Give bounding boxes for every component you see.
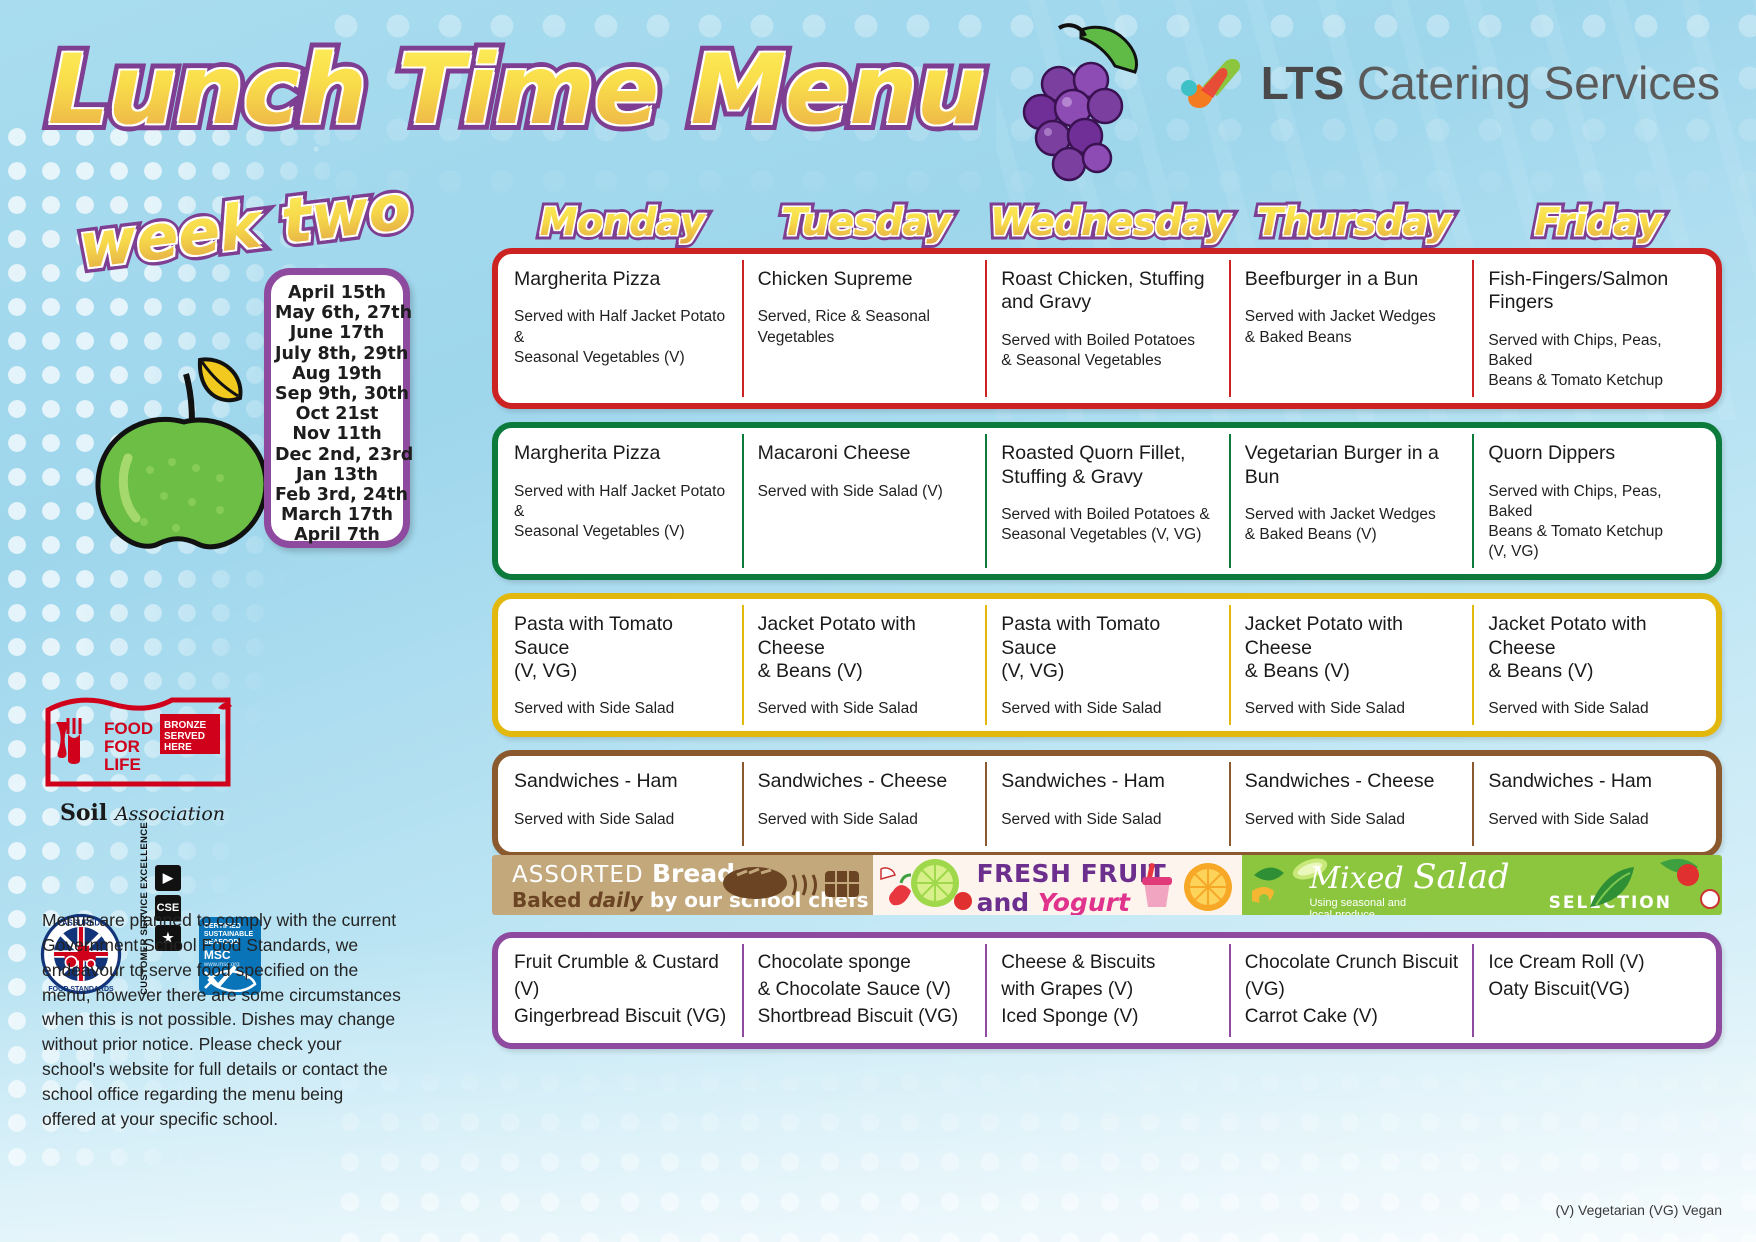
dish-name: Margherita Pizza: [514, 442, 728, 465]
dish-description: Served with Chips, Peas, Baked Beans & T…: [1488, 482, 1702, 563]
dish-description: Served, Rice & Seasonal Vegetables: [758, 307, 972, 347]
menu-cell: Margherita Pizza Served with Half Jacket…: [498, 428, 742, 574]
dish-name: Roasted Quorn Fillet, Stuffing & Gravy: [1001, 442, 1215, 489]
menu-cell: Sandwiches - Ham Served with Side Salad: [985, 756, 1229, 852]
dish-name: Beefburger in a Bun: [1245, 268, 1459, 291]
dish-description: Served with Side Salad: [1488, 810, 1702, 830]
dish-description: Served with Jacket Wedges & Baked Beans …: [1245, 505, 1459, 545]
menu-cell: Cheese & Biscuits with Grapes (V) Iced S…: [985, 938, 1229, 1043]
menu-cell: Jacket Potato with Cheese & Beans (V) Se…: [1472, 599, 1716, 731]
promo-fruit-line1: FRESH FRUIT: [977, 859, 1167, 888]
dish-description: Served with Boiled Potatoes & Seasonal V…: [1001, 331, 1215, 371]
menu-row-main-meat: Margherita Pizza Served with Half Jacket…: [492, 248, 1722, 409]
menu-cell: Roasted Quorn Fillet, Stuffing & Gravy S…: [985, 428, 1229, 574]
dessert-section: Fruit Crumble & Custard (V) Gingerbread …: [492, 932, 1722, 1062]
dish-description: Served with Jacket Wedges & Baked Beans: [1245, 307, 1459, 347]
menu-cell: Jacket Potato with Cheese & Beans (V) Se…: [1229, 599, 1473, 731]
promo-salad-line1: Mixed Salad: [1309, 857, 1509, 897]
date-line: March 17th: [275, 505, 399, 525]
menu-cell: Chicken Supreme Served, Rice & Seasonal …: [742, 254, 986, 403]
dish-name: Sandwiches - Cheese: [1245, 770, 1459, 793]
promo-fruit-and: and: [977, 888, 1038, 915]
menu-cell: Fruit Crumble & Custard (V) Gingerbread …: [498, 938, 742, 1043]
ffl-badge3: HERE: [164, 742, 192, 753]
disclaimer-text: Menus are planned to comply with the cur…: [42, 908, 402, 1132]
dietary-key-note: (V) Vegetarian (VG) Vegan: [1555, 1202, 1722, 1218]
dessert-text: Chocolate sponge & Chocolate Sauce (V) S…: [758, 950, 972, 1031]
date-line: Aug 19th: [275, 364, 399, 384]
promo-salad-sub: Using seasonal and local produce: [1309, 897, 1509, 915]
menu-cell: Jacket Potato with Cheese & Beans (V) Se…: [742, 599, 986, 731]
lts-bold: LTS: [1261, 57, 1344, 109]
date-line: Feb 3rd, 24th: [275, 485, 399, 505]
menu-cell: Sandwiches - Cheese Served with Side Sal…: [742, 756, 986, 852]
dish-description: Served with Chips, Peas, Baked Beans & T…: [1488, 331, 1702, 391]
promo-salad-text: Mixed Salad Using seasonal and local pro…: [1309, 857, 1509, 915]
promo-fruit-text: FRESH FRUIT and Yogurt: [977, 859, 1167, 915]
date-line: July 8th, 29th: [275, 344, 399, 364]
lts-tick-icon: [1173, 46, 1247, 120]
menu-cell: Ice Cream Roll (V) Oaty Biscuit(VG): [1472, 938, 1716, 1043]
dish-description: Served with Side Salad: [1001, 699, 1215, 719]
lts-wordmark: LTS Catering Services: [1261, 56, 1720, 110]
dish-name: Jacket Potato with Cheese & Beans (V): [1245, 613, 1459, 683]
day-header-wednesday-outline: Wednesday: [990, 200, 1230, 244]
menu-cell: Sandwiches - Cheese Served with Side Sal…: [1229, 756, 1473, 852]
promo-breads: ASSORTED Breads Baked daily by our schoo…: [492, 855, 873, 915]
dish-name: Margherita Pizza: [514, 268, 728, 291]
menu-cell: Vegetarian Burger in a Bun Served with J…: [1229, 428, 1473, 574]
date-line: June 17th: [275, 323, 399, 343]
promo-banner: ASSORTED Breads Baked daily by our schoo…: [492, 855, 1722, 915]
blackberry-icon: [985, 22, 1155, 197]
dish-name: Jacket Potato with Cheese & Beans (V): [758, 613, 972, 683]
dish-description: Served with Side Salad: [1488, 699, 1702, 719]
page-title-outline: Lunch Time Menu: [48, 34, 984, 146]
date-line: April 7th: [275, 525, 399, 545]
dish-name: Sandwiches - Cheese: [758, 770, 972, 793]
promo-breads-assorted: ASSORTED: [512, 862, 652, 888]
fruit-icons: [877, 857, 987, 913]
dish-name: Pasta with Tomato Sauce (V, VG): [514, 613, 728, 683]
ffl-badge1: BRONZE: [164, 720, 207, 731]
dessert-text: Fruit Crumble & Custard (V) Gingerbread …: [514, 950, 728, 1031]
promo-mixed-salad: Mixed Salad Using seasonal and local pro…: [1242, 855, 1722, 915]
dish-name: Pasta with Tomato Sauce (V, VG): [1001, 613, 1215, 683]
dish-name: Sandwiches - Ham: [1001, 770, 1215, 793]
menu-cell: Pasta with Tomato Sauce (V, VG) Served w…: [985, 599, 1229, 731]
dish-name: Fish-Fingers/Salmon Fingers: [1488, 268, 1702, 315]
menu-cell: Beefburger in a Bun Served with Jacket W…: [1229, 254, 1473, 403]
ffl-line1: FOOD: [104, 719, 153, 738]
lts-rest: Catering Services: [1344, 57, 1720, 109]
salad-leaf-tomato-icons: [1570, 855, 1720, 915]
dessert-text: Chocolate Crunch Biscuit (VG) Carrot Cak…: [1245, 950, 1459, 1031]
dish-name: Sandwiches - Ham: [1488, 770, 1702, 793]
dish-description: Served with Side Salad: [758, 810, 972, 830]
bread-loaf-icon: [721, 861, 861, 907]
dish-description: Served with Half Jacket Potato & Seasona…: [514, 482, 728, 542]
dessert-text: Ice Cream Roll (V) Oaty Biscuit(VG): [1488, 950, 1702, 1004]
dish-description: Served with Half Jacket Potato & Seasona…: [514, 307, 728, 367]
menu-cell: Chocolate Crunch Biscuit (VG) Carrot Cak…: [1229, 938, 1473, 1043]
menu-row-jacket-pasta: Pasta with Tomato Sauce (V, VG) Served w…: [492, 593, 1722, 737]
dish-description: Served with Side Salad: [514, 810, 728, 830]
day-header-thursday-outline: Thursday: [1257, 200, 1451, 244]
food-for-life-logo: FOOD FOR LIFE BRONZE SERVED HERE: [42, 692, 238, 804]
menu-row-desserts: Fruit Crumble & Custard (V) Gingerbread …: [492, 932, 1722, 1049]
dates-card: April 15th May 6th, 27th June 17th July …: [264, 268, 410, 548]
dish-name: Vegetarian Burger in a Bun: [1245, 442, 1459, 489]
cse-play-icon: ▶: [155, 865, 181, 891]
dish-description: Served with Side Salad: [1245, 810, 1459, 830]
promo-fruit-yogurt: Yogurt: [1038, 888, 1130, 915]
dish-description: Served with Boiled Potatoes & Seasonal V…: [1001, 505, 1215, 545]
dish-description: Served with Side Salad: [1001, 810, 1215, 830]
promo-salad-mixed: Mixed: [1309, 861, 1413, 896]
date-line: Sep 9th, 30th: [275, 384, 399, 404]
dish-description: Served with Side Salad: [514, 699, 728, 719]
dish-name: Chicken Supreme: [758, 268, 972, 291]
day-header-tuesday-outline: Tuesday: [781, 200, 950, 244]
menu-cell: Pasta with Tomato Sauce (V, VG) Served w…: [498, 599, 742, 731]
dish-name: Roast Chicken, Stuffing and Gravy: [1001, 268, 1215, 315]
menu-grid: Margherita Pizza Served with Half Jacket…: [492, 248, 1722, 871]
menu-cell: Sandwiches - Ham Served with Side Salad: [1472, 756, 1716, 852]
date-line: April 15th: [275, 283, 399, 303]
lts-logo: LTS Catering Services: [1173, 46, 1720, 120]
promo-breads-baked: Baked: [512, 888, 588, 912]
menu-cell: Fish-Fingers/Salmon Fingers Served with …: [1472, 254, 1716, 403]
day-header-friday-outline: Friday: [1535, 200, 1662, 244]
menu-cell: Macaroni Cheese Served with Side Salad (…: [742, 428, 986, 574]
ffl-line3: LIFE: [104, 755, 141, 774]
date-line: Dec 2nd, 23rd: [275, 445, 399, 465]
date-line: May 6th, 27th: [275, 303, 399, 323]
dish-description: Served with Side Salad (V): [758, 482, 972, 502]
date-line: Nov 11th: [275, 424, 399, 444]
dish-description: Served with Side Salad: [1245, 699, 1459, 719]
date-line: Oct 21st: [275, 404, 399, 424]
menu-row-vegetarian: Margherita Pizza Served with Half Jacket…: [492, 422, 1722, 580]
dish-description: Served with Side Salad: [758, 699, 972, 719]
dish-name: Jacket Potato with Cheese & Beans (V): [1488, 613, 1702, 683]
yogurt-orange-icon: [1140, 857, 1236, 913]
menu-cell: Margherita Pizza Served with Half Jacket…: [498, 254, 742, 403]
promo-fresh-fruit: FRESH FRUIT and Yogurt: [873, 855, 1242, 915]
dish-name: Quorn Dippers: [1488, 442, 1702, 465]
promo-fruit-line2: and Yogurt: [977, 888, 1167, 915]
menu-cell: Sandwiches - Ham Served with Side Salad: [498, 756, 742, 852]
date-line: Jan 13th: [275, 465, 399, 485]
day-header-monday-outline: Monday: [540, 200, 704, 244]
promo-breads-daily: daily: [588, 888, 643, 912]
menu-cell: Quorn Dippers Served with Chips, Peas, B…: [1472, 428, 1716, 574]
dish-name: Macaroni Cheese: [758, 442, 972, 465]
menu-row-sandwiches: Sandwiches - Ham Served with Side Salad …: [492, 750, 1722, 858]
dessert-text: Cheese & Biscuits with Grapes (V) Iced S…: [1001, 950, 1215, 1031]
menu-cell: Roast Chicken, Stuffing and Gravy Served…: [985, 254, 1229, 403]
dish-name: Sandwiches - Ham: [514, 770, 728, 793]
promo-salad-salad: Salad: [1413, 857, 1509, 897]
ffl-line2: FOR: [104, 737, 140, 756]
apple-icon: [80, 330, 295, 555]
menu-cell: Chocolate sponge & Chocolate Sauce (V) S…: [742, 938, 986, 1043]
ffl-badge2: SERVED: [164, 731, 205, 742]
